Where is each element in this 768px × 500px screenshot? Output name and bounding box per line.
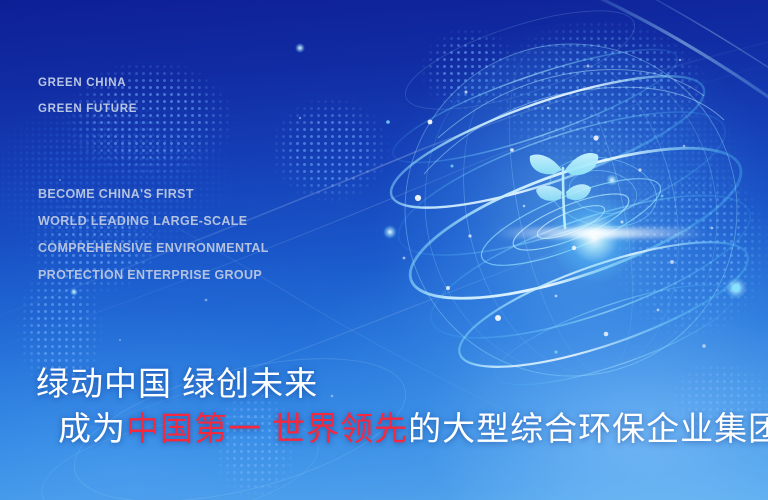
eyebrow-line-1: GREEN CHINA xyxy=(38,70,137,96)
eyebrow-text-block: GREEN CHINA GREEN FUTURE xyxy=(38,70,137,122)
wireframe-globe xyxy=(398,42,744,378)
headline-accent-china-first: 中国第一 xyxy=(126,410,262,447)
headline-suffix: 的大型综合环保企业集团 xyxy=(408,410,768,447)
headline-prefix: 成为 xyxy=(58,410,126,447)
headline-block: 绿动中国 绿创未来 成为中国第一 世界领先的大型综合环保企业集团 xyxy=(36,362,768,452)
eyebrow-line-2: GREEN FUTURE xyxy=(38,96,137,122)
tagline-text-block: BECOME CHINA'S FIRST WORLD LEADING LARGE… xyxy=(38,181,269,289)
sprout-seedling-icon xyxy=(524,146,602,232)
tagline-line-3: COMPREHENSIVE ENVIRONMENTAL xyxy=(38,235,269,262)
headline-line-1: 绿动中国 绿创未来 xyxy=(36,362,768,406)
tagline-line-2: WORLD LEADING LARGE-SCALE xyxy=(38,208,269,235)
headline-gap xyxy=(262,410,272,447)
hero-banner: GREEN CHINA GREEN FUTURE BECOME CHINA'S … xyxy=(0,0,768,500)
tagline-line-1: BECOME CHINA'S FIRST xyxy=(38,181,269,208)
tagline-line-4: PROTECTION ENTERPRISE GROUP xyxy=(38,262,269,289)
headline-line-2: 成为中国第一 世界领先的大型综合环保企业集团 xyxy=(58,406,768,452)
headline-accent-world-leading: 世界领先 xyxy=(272,410,408,447)
